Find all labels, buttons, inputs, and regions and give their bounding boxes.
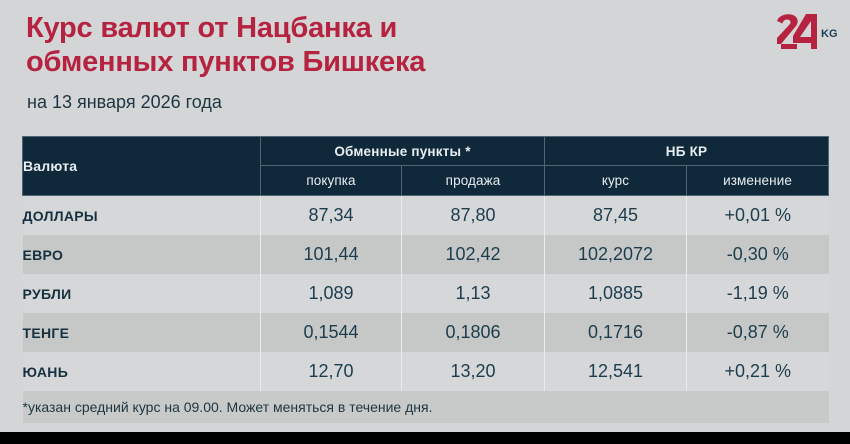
cell-sell: 87,80	[402, 196, 545, 236]
table-header: Валюта Обменные пункты * НБ КР покупка п…	[23, 137, 829, 196]
column-header-buy: покупка	[261, 166, 402, 196]
page-title-line-2: обменных пунктов Бишкека	[26, 45, 666, 79]
page-subtitle-date: на 13 января 2026 года	[27, 92, 222, 113]
table-row: ДОЛЛАРЫ 87,34 87,80 87,45 +0,01 %	[23, 196, 829, 236]
cell-currency-name: ЕВРО	[23, 235, 261, 274]
cell-currency-name: РУБЛИ	[23, 274, 261, 313]
cell-change: -1,19 %	[687, 274, 829, 313]
cell-currency-name: ТЕНГЕ	[23, 313, 261, 352]
cell-currency-name: ДОЛЛАРЫ	[23, 196, 261, 236]
column-group-exchange-points: Обменные пункты *	[261, 137, 545, 166]
page-title: Курс валют от Нацбанка и обменных пункто…	[26, 11, 666, 79]
cell-sell: 0,1806	[402, 313, 545, 352]
page-header: Курс валют от Нацбанка и обменных пункто…	[0, 0, 850, 130]
column-header-rate: курс	[545, 166, 687, 196]
bottom-black-bar	[0, 432, 850, 444]
table-row: РУБЛИ 1,089 1,13 1,0885 -1,19 %	[23, 274, 829, 313]
cell-rate: 102,2072	[545, 235, 687, 274]
cell-rate: 87,45	[545, 196, 687, 236]
cell-buy: 87,34	[261, 196, 402, 236]
cell-buy: 1,089	[261, 274, 402, 313]
table-body: ДОЛЛАРЫ 87,34 87,80 87,45 +0,01 % ЕВРО 1…	[23, 196, 829, 424]
cell-change: -0,30 %	[687, 235, 829, 274]
cell-currency-name: ЮАНЬ	[23, 352, 261, 391]
column-group-nbkr: НБ КР	[545, 137, 829, 166]
table-row: ЕВРО 101,44 102,42 102,2072 -0,30 %	[23, 235, 829, 274]
column-header-currency: Валюта	[23, 137, 261, 196]
cell-rate: 12,541	[545, 352, 687, 391]
cell-buy: 12,70	[261, 352, 402, 391]
cell-change: +0,21 %	[687, 352, 829, 391]
table-footnote: *указан средний курс на 09.00. Может мен…	[23, 391, 829, 423]
page-title-line-1: Курс валют от Нацбанка и	[26, 11, 666, 45]
logo-suffix-text: KG	[821, 28, 837, 40]
logo-icon: KG	[775, 13, 837, 51]
table-row: ТЕНГЕ 0,1544 0,1806 0,1716 -0,87 %	[23, 313, 829, 352]
column-header-sell: продажа	[402, 166, 545, 196]
cell-sell: 102,42	[402, 235, 545, 274]
table-footnote-row: *указан средний курс на 09.00. Может мен…	[23, 391, 829, 423]
cell-change: -0,87 %	[687, 313, 829, 352]
column-header-change: изменение	[687, 166, 829, 196]
cell-rate: 1,0885	[545, 274, 687, 313]
currency-rates-table: Валюта Обменные пункты * НБ КР покупка п…	[22, 136, 829, 423]
cell-sell: 13,20	[402, 352, 545, 391]
cell-change: +0,01 %	[687, 196, 829, 236]
table-header-row-groups: Валюта Обменные пункты * НБ КР	[23, 137, 829, 166]
cell-sell: 1,13	[402, 274, 545, 313]
cell-buy: 0,1544	[261, 313, 402, 352]
cell-buy: 101,44	[261, 235, 402, 274]
table-row: ЮАНЬ 12,70 13,20 12,541 +0,21 %	[23, 352, 829, 391]
cell-rate: 0,1716	[545, 313, 687, 352]
brand-logo-24kg: KG	[775, 13, 837, 51]
